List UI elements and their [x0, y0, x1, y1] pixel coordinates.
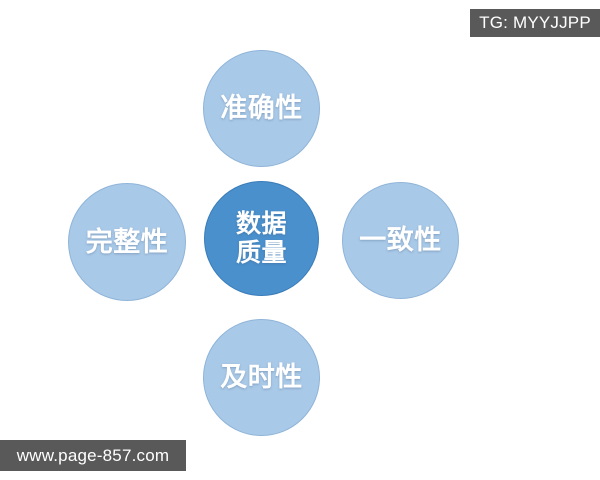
- diagram-node-data-quality-label: 数据 质量: [236, 210, 287, 268]
- diagram-node-consistency[interactable]: 一致性: [342, 182, 459, 299]
- diagram-canvas: 准确性 完整性 数据 质量 一致性 及时性 TG: MYYJJPP www.pa…: [0, 0, 600, 480]
- diagram-node-timeliness[interactable]: 及时性: [203, 319, 320, 436]
- diagram-node-timeliness-label: 及时性: [220, 362, 303, 392]
- diagram-node-completeness-label: 完整性: [86, 227, 169, 257]
- diagram-node-data-quality[interactable]: 数据 质量: [204, 181, 319, 296]
- tg-badge-text: TG: MYYJJPP: [479, 13, 591, 33]
- tg-badge: TG: MYYJJPP: [470, 9, 600, 37]
- diagram-node-accuracy-label: 准确性: [220, 93, 303, 123]
- watermark-text: www.page-857.com: [17, 446, 170, 466]
- diagram-node-consistency-label: 一致性: [359, 225, 442, 255]
- diagram-node-accuracy[interactable]: 准确性: [203, 50, 320, 167]
- diagram-node-completeness[interactable]: 完整性: [68, 183, 186, 301]
- watermark-badge: www.page-857.com: [0, 440, 186, 471]
